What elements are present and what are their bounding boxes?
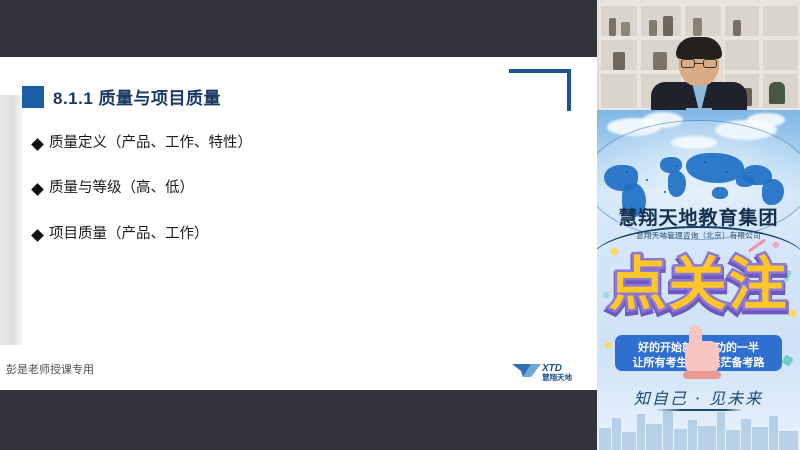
list-item: 质量定义（产品、工作、特性） <box>33 135 463 152</box>
presentation-slide[interactable]: 8.1.1 质量与项目质量 质量定义（产品、工作、特性） 质量与等级（高、低） … <box>0 57 597 390</box>
list-item: 项目质量（产品、工作） <box>33 226 463 243</box>
slide-footer-note: 彭是老师授课专用 <box>6 361 94 377</box>
xtd-logo-icon: XTD 慧翔天地 <box>511 360 575 382</box>
slide-bullet-list: 质量定义（产品、工作、特性） 质量与等级（高、低） 项目质量（产品、工作） <box>33 135 463 271</box>
callout-text: 点关注 <box>597 255 800 313</box>
slide-left-band <box>0 95 22 345</box>
promo-banner[interactable]: 慧翔天地教育集团 慧翔天地管理咨询（北京）有限公司 点关注 点关注 好的开始就是… <box>597 110 800 450</box>
list-item-label: 质量定义（产品、工作、特性） <box>49 135 252 152</box>
promo-brand-subtitle: 慧翔天地管理咨询（北京）有限公司 <box>597 230 800 241</box>
list-item-label: 项目质量（产品、工作） <box>49 226 209 243</box>
slide-viewer[interactable]: 8.1.1 质量与项目质量 质量定义（产品、工作、特性） 质量与等级（高、低） … <box>0 0 597 450</box>
thumbs-up-icon <box>681 325 723 377</box>
title-accent-chip <box>22 86 44 108</box>
glasses-icon <box>681 59 717 68</box>
diamond-bullet-icon <box>31 229 44 242</box>
instructor-video-tile[interactable] <box>597 0 800 110</box>
diamond-bullet-icon <box>31 138 44 151</box>
instructor-figure <box>659 40 739 110</box>
corner-bracket-decoration <box>509 69 571 111</box>
app-window: 8.1.1 质量与项目质量 质量定义（产品、工作、特性） 质量与等级（高、低） … <box>0 0 800 450</box>
slide-brand-logo: XTD 慧翔天地 <box>511 360 575 382</box>
page-title: 8.1.1 质量与项目质量 <box>53 84 221 109</box>
list-item-label: 质量与等级（高、低） <box>49 180 194 197</box>
list-item: 质量与等级（高、低） <box>33 180 463 197</box>
sidebar-panel: 慧翔天地教育集团 慧翔天地管理咨询（北京）有限公司 点关注 点关注 好的开始就是… <box>597 0 800 450</box>
slide-title-row: 8.1.1 质量与项目质量 <box>22 84 221 109</box>
city-skyline-graphic <box>597 398 800 450</box>
svg-text:慧翔天地: 慧翔天地 <box>542 372 572 382</box>
diamond-bullet-icon <box>31 184 44 197</box>
